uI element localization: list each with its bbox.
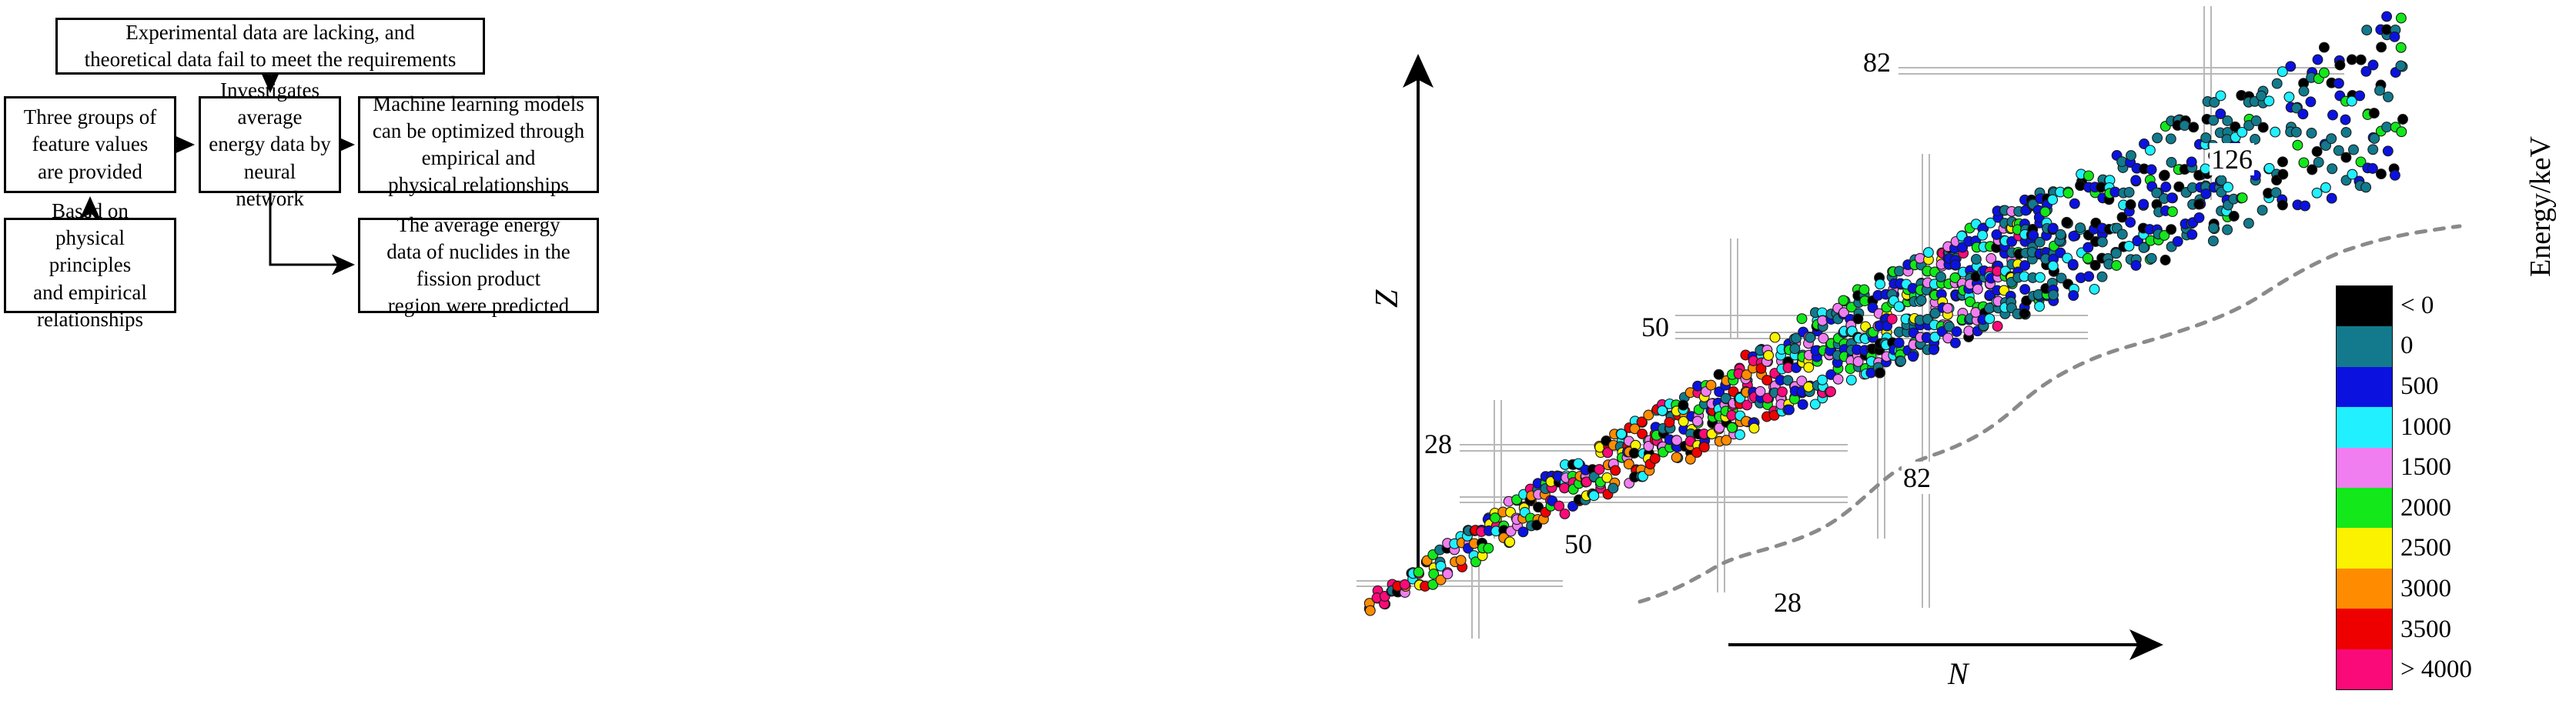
nuclide-marker — [2173, 236, 2183, 246]
nuclide-marker — [1985, 314, 1995, 324]
nuclide-marker — [2161, 182, 2171, 192]
nuclide-marker — [2049, 290, 2059, 300]
nuclide-marker — [2098, 237, 2108, 247]
nuclide-marker — [1650, 454, 1660, 464]
colorbar-band-8 — [2337, 609, 2392, 649]
nuclide-marker — [2194, 199, 2204, 209]
nuclide-marker — [2369, 108, 2379, 118]
nuclide-marker — [2397, 13, 2407, 23]
colorbar-band-0 — [2337, 286, 2392, 326]
nuclide-marker — [2298, 109, 2308, 119]
nuclide-marker — [2084, 171, 2094, 181]
nuclide-marker — [2168, 207, 2178, 217]
nuclide-marker — [2257, 205, 2267, 215]
nuclide-marker — [2341, 128, 2351, 138]
colorbar-band-7 — [2337, 569, 2392, 609]
nuclide-marker — [1560, 483, 1570, 493]
nuclide-marker — [2384, 92, 2394, 102]
nuclide-marker — [1818, 315, 1828, 325]
nuclide-marker — [1456, 556, 1466, 566]
colorbar-title: Energy/keV — [2517, 0, 2564, 277]
nuclide-marker — [2167, 193, 2177, 203]
nuclide-marker — [1735, 430, 1745, 440]
nuclide-marker — [1749, 423, 1759, 433]
nuclide-marker — [1413, 567, 1423, 577]
nuclide-marker — [2334, 78, 2344, 88]
nuclide-marker — [1838, 295, 1848, 305]
nuclide-marker — [2377, 42, 2387, 52]
nuclide-marker — [1693, 416, 1703, 426]
nuclide-markers — [1364, 12, 2407, 616]
nuclide-marker — [2313, 55, 2323, 65]
nuclide-marker — [1764, 351, 1774, 361]
nuclide-marker — [1833, 374, 1843, 384]
nuclide-marker — [2284, 92, 2294, 102]
nuclide-marker — [2048, 261, 2058, 271]
colorbar-label-5: 2000 — [2400, 488, 2516, 529]
nuclide-marker — [1798, 399, 1808, 409]
nuclide-marker — [2320, 42, 2330, 52]
nuclide-marker — [1924, 248, 1934, 258]
nuclide-marker — [2368, 164, 2378, 174]
nuclide-marker — [2375, 85, 2385, 95]
nuclide-marker — [2307, 128, 2317, 138]
nuclide-marker — [2341, 152, 2351, 162]
nuclide-marker — [1826, 387, 1836, 397]
nuclide-marker — [2186, 157, 2196, 167]
nuclide-marker — [2223, 225, 2233, 235]
nuclide-marker — [2201, 133, 2211, 143]
nuclide-marker — [2349, 145, 2359, 155]
nuclide-marker — [2396, 42, 2406, 52]
colorbar-band-3 — [2337, 407, 2392, 447]
nuclide-marker — [2299, 86, 2309, 96]
nuclide-marker — [1518, 527, 1528, 537]
nuclide-marker — [2063, 189, 2073, 199]
nuclide-marker — [1952, 327, 1962, 337]
magic-label-n126: 126 — [2210, 143, 2254, 175]
nuclide-marker — [2390, 32, 2400, 42]
nuclide-marker — [2356, 55, 2366, 65]
magic-label-z28: 28 — [1423, 428, 1454, 460]
nuclide-marker — [2320, 68, 2330, 78]
nuclide-marker — [2223, 182, 2233, 192]
nuclide-marker — [2278, 169, 2288, 179]
nuclide-marker — [2216, 91, 2226, 101]
nuclide-marker — [2146, 253, 2156, 263]
nuclide-marker — [2131, 261, 2141, 271]
nuclide-marker — [2069, 199, 2079, 209]
nuclide-marker — [1972, 255, 1982, 265]
colorbar-band-9 — [2337, 649, 2392, 689]
nuclide-marker — [2036, 272, 2046, 282]
nuclide-marker — [1671, 452, 1681, 462]
nuclide-marker — [1951, 338, 1961, 348]
nuclide-marker — [2377, 169, 2387, 179]
colorbar-label-9: > 4000 — [2400, 649, 2516, 690]
nuclide-marker — [2312, 188, 2322, 198]
nuclide-marker — [1443, 569, 1453, 579]
nuclide-marker — [2131, 175, 2141, 185]
nuclide-marker — [2166, 225, 2176, 235]
nuclide-marker — [1896, 356, 1906, 366]
nuclide-marker — [1678, 400, 1688, 410]
nuclide-marker — [2209, 236, 2219, 246]
nuclide-marker — [1936, 272, 1946, 282]
nuclide-marker — [1992, 322, 2002, 332]
flow-box-problem-statement: Experimental data are lacking, and theor… — [55, 18, 485, 75]
nuclide-marker — [1804, 382, 1814, 392]
nuclide-marker — [1916, 295, 1926, 305]
nuclide-marker — [2209, 223, 2219, 233]
nuclide-marker — [2321, 182, 2331, 192]
nuclide-marker — [2397, 127, 2407, 137]
nuclide-marker — [2293, 140, 2303, 150]
figure-root: Experimental data are lacking, and theor… — [0, 0, 2576, 704]
flowchart-connectors — [0, 0, 1309, 704]
nuclide-marker — [2299, 158, 2309, 168]
nuclide-marker — [2068, 259, 2078, 269]
nuclide-marker — [1797, 314, 1807, 324]
nuclide-marker — [1560, 509, 1570, 519]
nuclide-marker — [2355, 91, 2365, 101]
nuclide-marker — [2382, 12, 2392, 22]
nuclide-marker — [2166, 134, 2176, 144]
nuclide-marker — [2258, 122, 2268, 132]
colorbar-label-1: 0 — [2400, 326, 2516, 367]
colorbar-band-2 — [2337, 367, 2392, 407]
nuclide-marker — [2383, 146, 2393, 156]
nuclide-marker — [1818, 375, 1828, 385]
nuclide-marker — [2313, 158, 2323, 168]
nuclide-marker — [2160, 255, 2170, 265]
nuclide-marker — [2146, 145, 2156, 155]
nuclide-marker — [1728, 423, 1738, 433]
colorbar-label-7: 3000 — [2400, 569, 2516, 609]
nuclide-marker — [2112, 261, 2122, 271]
nuclide-marker — [2117, 229, 2127, 239]
nuclide-marker — [1978, 230, 1988, 240]
nuclide-marker — [2278, 200, 2288, 210]
nuclide-marker — [2187, 229, 2197, 239]
colorbar-label-0: < 0 — [2400, 285, 2516, 326]
flow-box-investigation: Investigates average energy data by neur… — [199, 96, 341, 193]
nuclide-marker — [2398, 115, 2408, 125]
nuclide-marker — [2244, 219, 2254, 229]
nuclide-marker — [1875, 368, 1885, 378]
nuclide-marker — [1699, 442, 1709, 452]
nuclide-marker — [2153, 133, 2163, 143]
nuclide-marker — [2368, 60, 2378, 70]
nuclide-marker — [1611, 465, 1621, 475]
colorbar-label-3: 1000 — [2400, 407, 2516, 448]
energy-colorbar — [2336, 285, 2393, 690]
nuclide-marker — [1887, 314, 1897, 324]
nuclide-marker — [2328, 110, 2338, 120]
nuclide-marker — [2396, 61, 2406, 71]
colorbar-band-1 — [2337, 326, 2392, 366]
nuclide-marker — [2056, 229, 2066, 239]
magic-label-n82: 82 — [1902, 462, 1932, 494]
colorbar-label-2: 500 — [2400, 366, 2516, 407]
nuclide-marker — [2159, 170, 2170, 180]
flow-box-ml-optimization: Machine learning models can be optimized… — [358, 96, 599, 193]
nuclide-marker — [2180, 121, 2190, 131]
nuclide-marker — [2069, 291, 2079, 301]
nuclide-marker — [2347, 55, 2357, 65]
z-axis-label: Z — [1369, 290, 1406, 308]
nuclide-chart-panel: Z N 28 50 82 28 50 82 126 < 005001000150… — [1309, 0, 2576, 704]
magic-label-z82: 82 — [1862, 46, 1892, 78]
nuclide-marker — [1706, 380, 1716, 390]
nuclide-marker — [1664, 418, 1674, 428]
nuclide-marker — [2368, 145, 2378, 155]
n-axis-label: N — [1948, 656, 1969, 692]
nuclide-marker — [2272, 78, 2282, 88]
nuclide-marker — [1672, 435, 1682, 445]
nuclide-marker — [2139, 199, 2149, 209]
nuclide-marker — [2035, 302, 2045, 312]
colorbar-band-5 — [2337, 488, 2392, 528]
nuclide-marker — [2189, 122, 2199, 132]
nuclide-marker — [1929, 345, 1939, 355]
nuclide-marker — [2019, 309, 2029, 319]
flowchart-panel: Experimental data are lacking, and theor… — [0, 0, 1309, 704]
nuclide-marker — [1846, 375, 1856, 385]
nuclide-marker — [2361, 182, 2371, 192]
nuclide-marker — [2201, 189, 2211, 199]
nuclide-marker — [1484, 543, 1494, 553]
nuclide-marker — [1875, 279, 1885, 289]
nuclide-marker — [2312, 147, 2322, 157]
magic-label-z50: 50 — [1640, 311, 1671, 343]
nuclide-marker — [1909, 352, 1919, 362]
nuclide-marker — [2306, 97, 2316, 107]
nuclide-marker — [2194, 213, 2204, 223]
nuclide-marker — [2278, 157, 2288, 167]
nuclide-marker — [2089, 285, 2099, 295]
flow-box-physical-basis: Based on physical principles and empiric… — [4, 218, 176, 313]
nuclide-marker — [2362, 25, 2372, 35]
nuclide-marker — [2083, 253, 2093, 263]
nuclide-marker — [2286, 62, 2296, 72]
nuclide-marker — [1629, 449, 1639, 459]
flow-box-prediction-result: The average energy data of nuclides in t… — [358, 218, 599, 313]
nuclide-marker — [2264, 96, 2274, 106]
nuclide-marker — [2237, 193, 2247, 203]
nuclide-marker — [1365, 606, 1375, 616]
nuclide-marker — [2126, 151, 2136, 161]
nuclide-marker — [2229, 212, 2239, 222]
nuclide-marker — [2076, 223, 2086, 233]
colorbar-label-4: 1500 — [2400, 447, 2516, 488]
magic-label-n50: 50 — [1563, 528, 1594, 560]
nuclide-marker — [1778, 387, 1788, 397]
nuclide-marker — [1785, 405, 1795, 415]
nuclide-marker — [2291, 127, 2301, 137]
nuclide-marker — [1973, 284, 1983, 294]
colorbar-band-4 — [2337, 448, 2392, 488]
colorbar-band-6 — [2337, 528, 2392, 568]
nuclide-marker — [2340, 115, 2350, 125]
nuclide-marker — [1853, 314, 1863, 324]
colorbar-label-8: 3500 — [2400, 609, 2516, 650]
nuclide-marker — [1942, 303, 1952, 313]
nuclide-marker — [2084, 272, 2094, 282]
nuclide-marker — [2270, 127, 2280, 137]
energy-colorbar-labels: < 00500100015002000250030003500> 4000 — [2400, 285, 2516, 690]
nuclide-marker — [2335, 60, 2345, 70]
nuclide-marker — [2327, 134, 2337, 144]
nuclide-marker — [1594, 465, 1604, 475]
nuclide-marker — [2390, 170, 2400, 180]
nuclide-marker — [1770, 332, 1780, 342]
nuclide-marker — [2126, 218, 2136, 228]
nuclide-marker — [1608, 483, 1618, 493]
nuclide-marker — [1859, 285, 1869, 295]
nuclide-marker — [2062, 217, 2072, 227]
nuclide-marker — [2327, 164, 2337, 174]
colorbar-label-6: 2500 — [2400, 529, 2516, 569]
nuclide-marker — [1894, 338, 1904, 348]
nuclide-marker — [2382, 122, 2392, 132]
nuclide-marker — [2126, 200, 2136, 210]
nuclide-marker — [1505, 537, 1515, 547]
nuclide-marker — [2124, 188, 2134, 198]
nuclide-marker — [2020, 285, 2030, 295]
nuclide-marker — [2097, 272, 2107, 282]
nuclide-marker — [2146, 165, 2156, 175]
nuclide-marker — [1951, 260, 1961, 270]
nuclide-marker — [2040, 207, 2050, 217]
nuclide-marker — [2048, 195, 2058, 205]
nuclide-marker — [1804, 362, 1814, 372]
nuclide-marker — [2300, 201, 2310, 211]
magic-label-n28: 28 — [1772, 586, 1803, 619]
flow-box-feature-values: Three groups of feature values are provi… — [4, 96, 176, 193]
nuclide-marker — [2327, 193, 2337, 203]
